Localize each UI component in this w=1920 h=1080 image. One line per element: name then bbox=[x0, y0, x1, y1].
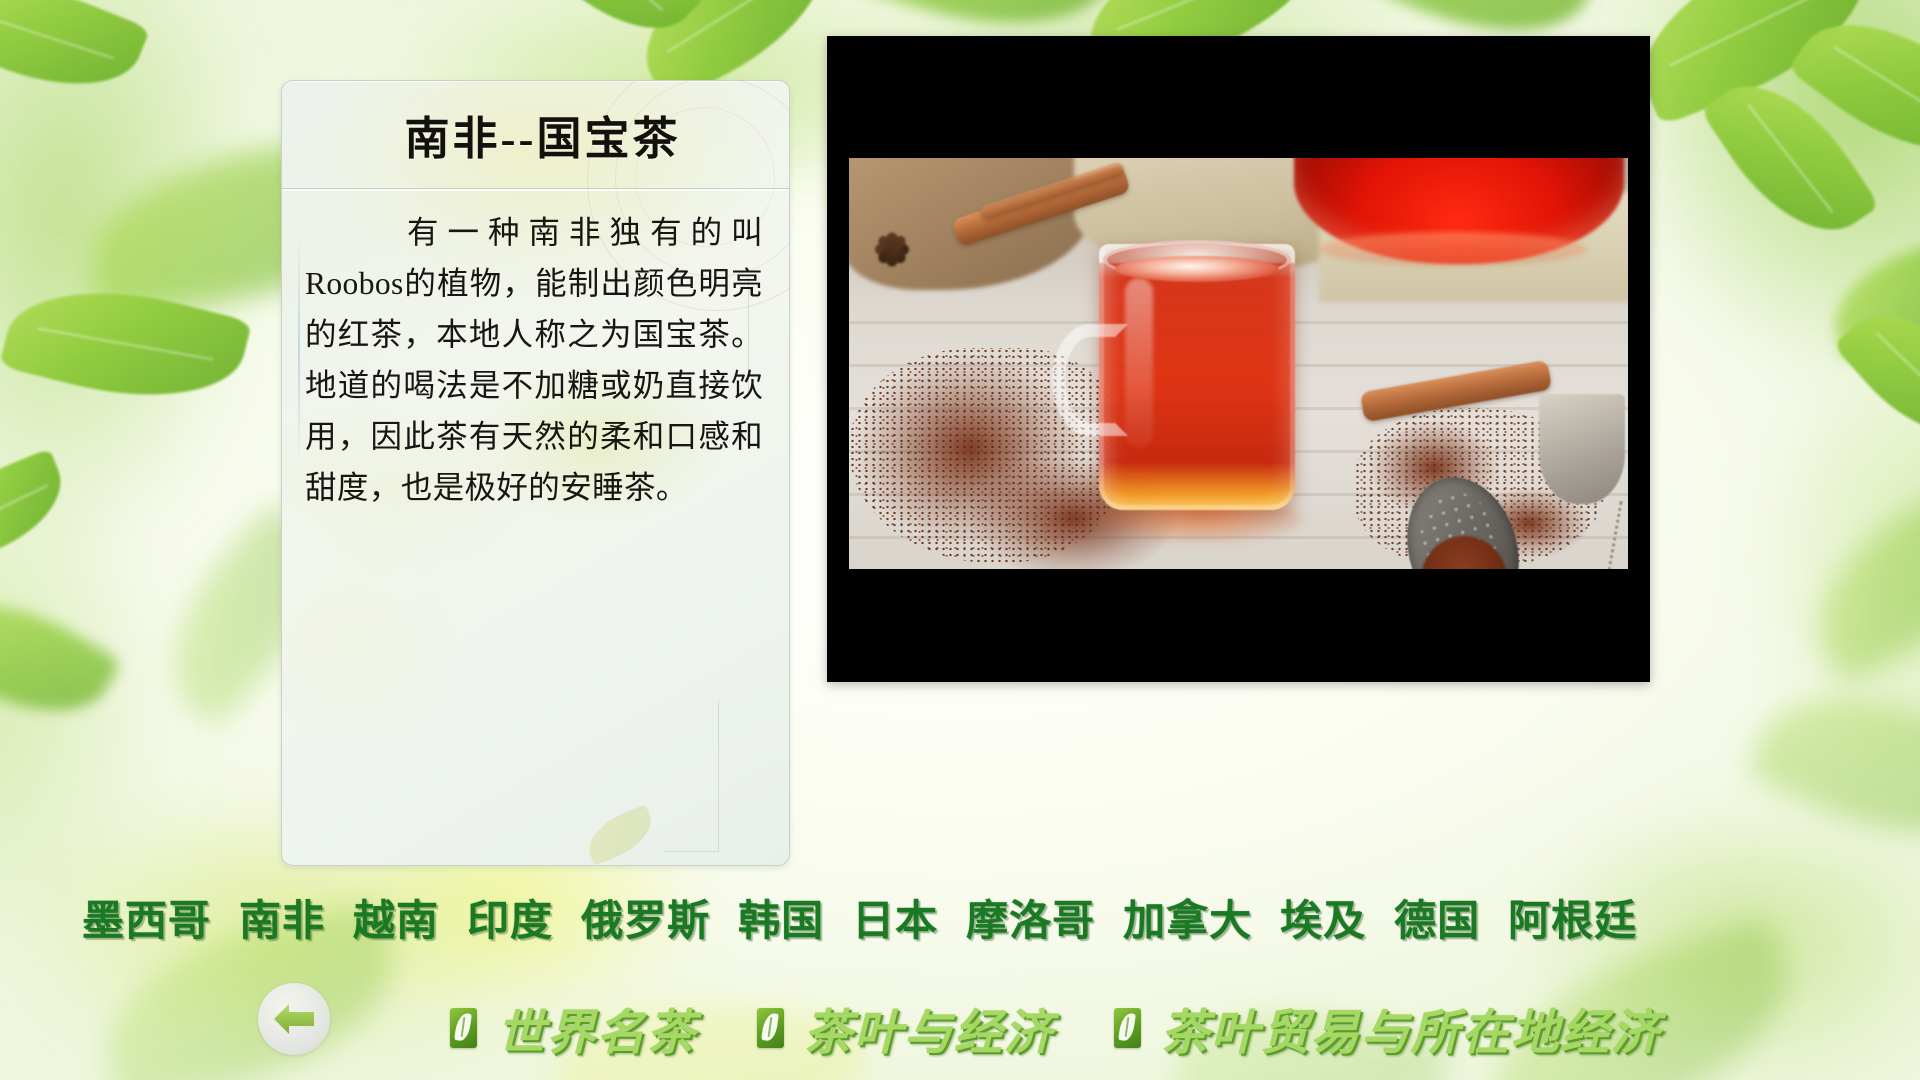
menu-item-world-famous-teas[interactable]: 世界名茶 bbox=[420, 993, 727, 1063]
leaf-bullet-icon bbox=[450, 1008, 477, 1048]
strainer-chain bbox=[1531, 488, 1623, 569]
country-canada[interactable]: 加拿大 bbox=[1109, 887, 1266, 948]
red-tea-pot-rim bbox=[1319, 232, 1587, 266]
arrow-left-icon bbox=[272, 999, 316, 1039]
card-body-text: 有一种南非独有的叫Roobos的植物，能制出颜色明亮的红茶，本地人称之为国宝茶。… bbox=[305, 207, 763, 513]
tea-surface bbox=[1115, 256, 1279, 282]
country-argentina[interactable]: 阿根廷 bbox=[1494, 887, 1651, 948]
card-left-rule bbox=[298, 231, 300, 467]
country-egypt[interactable]: 埃及 bbox=[1266, 887, 1380, 948]
back-button[interactable] bbox=[258, 983, 330, 1055]
bottom-bar: 世界名茶 茶叶与经济 茶叶贸易与所在地经济 bbox=[0, 975, 1920, 1080]
menu-item-tea-trade-and-local-economy[interactable]: 茶叶贸易与所在地经济 bbox=[1084, 993, 1691, 1063]
tea-strainer-cup bbox=[1539, 394, 1625, 504]
mug-handle bbox=[1052, 324, 1128, 436]
card-title-bar: 南非--国宝茶 bbox=[282, 81, 789, 189]
country-nav: 墨西哥 南非 越南 印度 俄罗斯 韩国 日本 摩洛哥 加拿大 埃及 德国 阿根廷 bbox=[0, 880, 1920, 954]
country-mexico[interactable]: 墨西哥 bbox=[68, 887, 225, 948]
star-anise-icon bbox=[857, 214, 927, 284]
menu-item-label: 茶叶与经济 bbox=[804, 993, 1054, 1063]
mug-glint bbox=[1125, 278, 1153, 448]
page-title: 南非--国宝茶 bbox=[391, 102, 681, 167]
country-japan[interactable]: 日本 bbox=[838, 887, 952, 948]
country-south-africa[interactable]: 南非 bbox=[225, 887, 339, 948]
country-korea[interactable]: 韩国 bbox=[724, 887, 838, 948]
country-russia[interactable]: 俄罗斯 bbox=[567, 887, 724, 948]
leaf-bullet-icon bbox=[757, 1008, 784, 1048]
menu-item-label: 茶叶贸易与所在地经济 bbox=[1161, 993, 1661, 1063]
tea-photo bbox=[849, 158, 1628, 569]
leaf-watermark-icon bbox=[580, 804, 659, 865]
country-vietnam[interactable]: 越南 bbox=[339, 887, 453, 948]
country-germany[interactable]: 德国 bbox=[1380, 887, 1494, 948]
section-menu: 世界名茶 茶叶与经济 茶叶贸易与所在地经济 bbox=[420, 975, 1920, 1080]
info-card: 南非--国宝茶 有一种南非独有的叫Roobos的植物，能制出颜色明亮的红茶，本地… bbox=[281, 80, 790, 866]
country-morocco[interactable]: 摩洛哥 bbox=[952, 887, 1109, 948]
photo-scene bbox=[849, 158, 1628, 569]
card-frame-line bbox=[663, 851, 719, 852]
card-frame-line bbox=[718, 701, 719, 851]
video-player-panel[interactable] bbox=[827, 36, 1650, 682]
leaf-bullet-icon bbox=[1114, 1008, 1141, 1048]
country-india[interactable]: 印度 bbox=[453, 887, 567, 948]
menu-item-label: 世界名茶 bbox=[497, 993, 697, 1063]
menu-item-tea-and-economy[interactable]: 茶叶与经济 bbox=[727, 993, 1084, 1063]
